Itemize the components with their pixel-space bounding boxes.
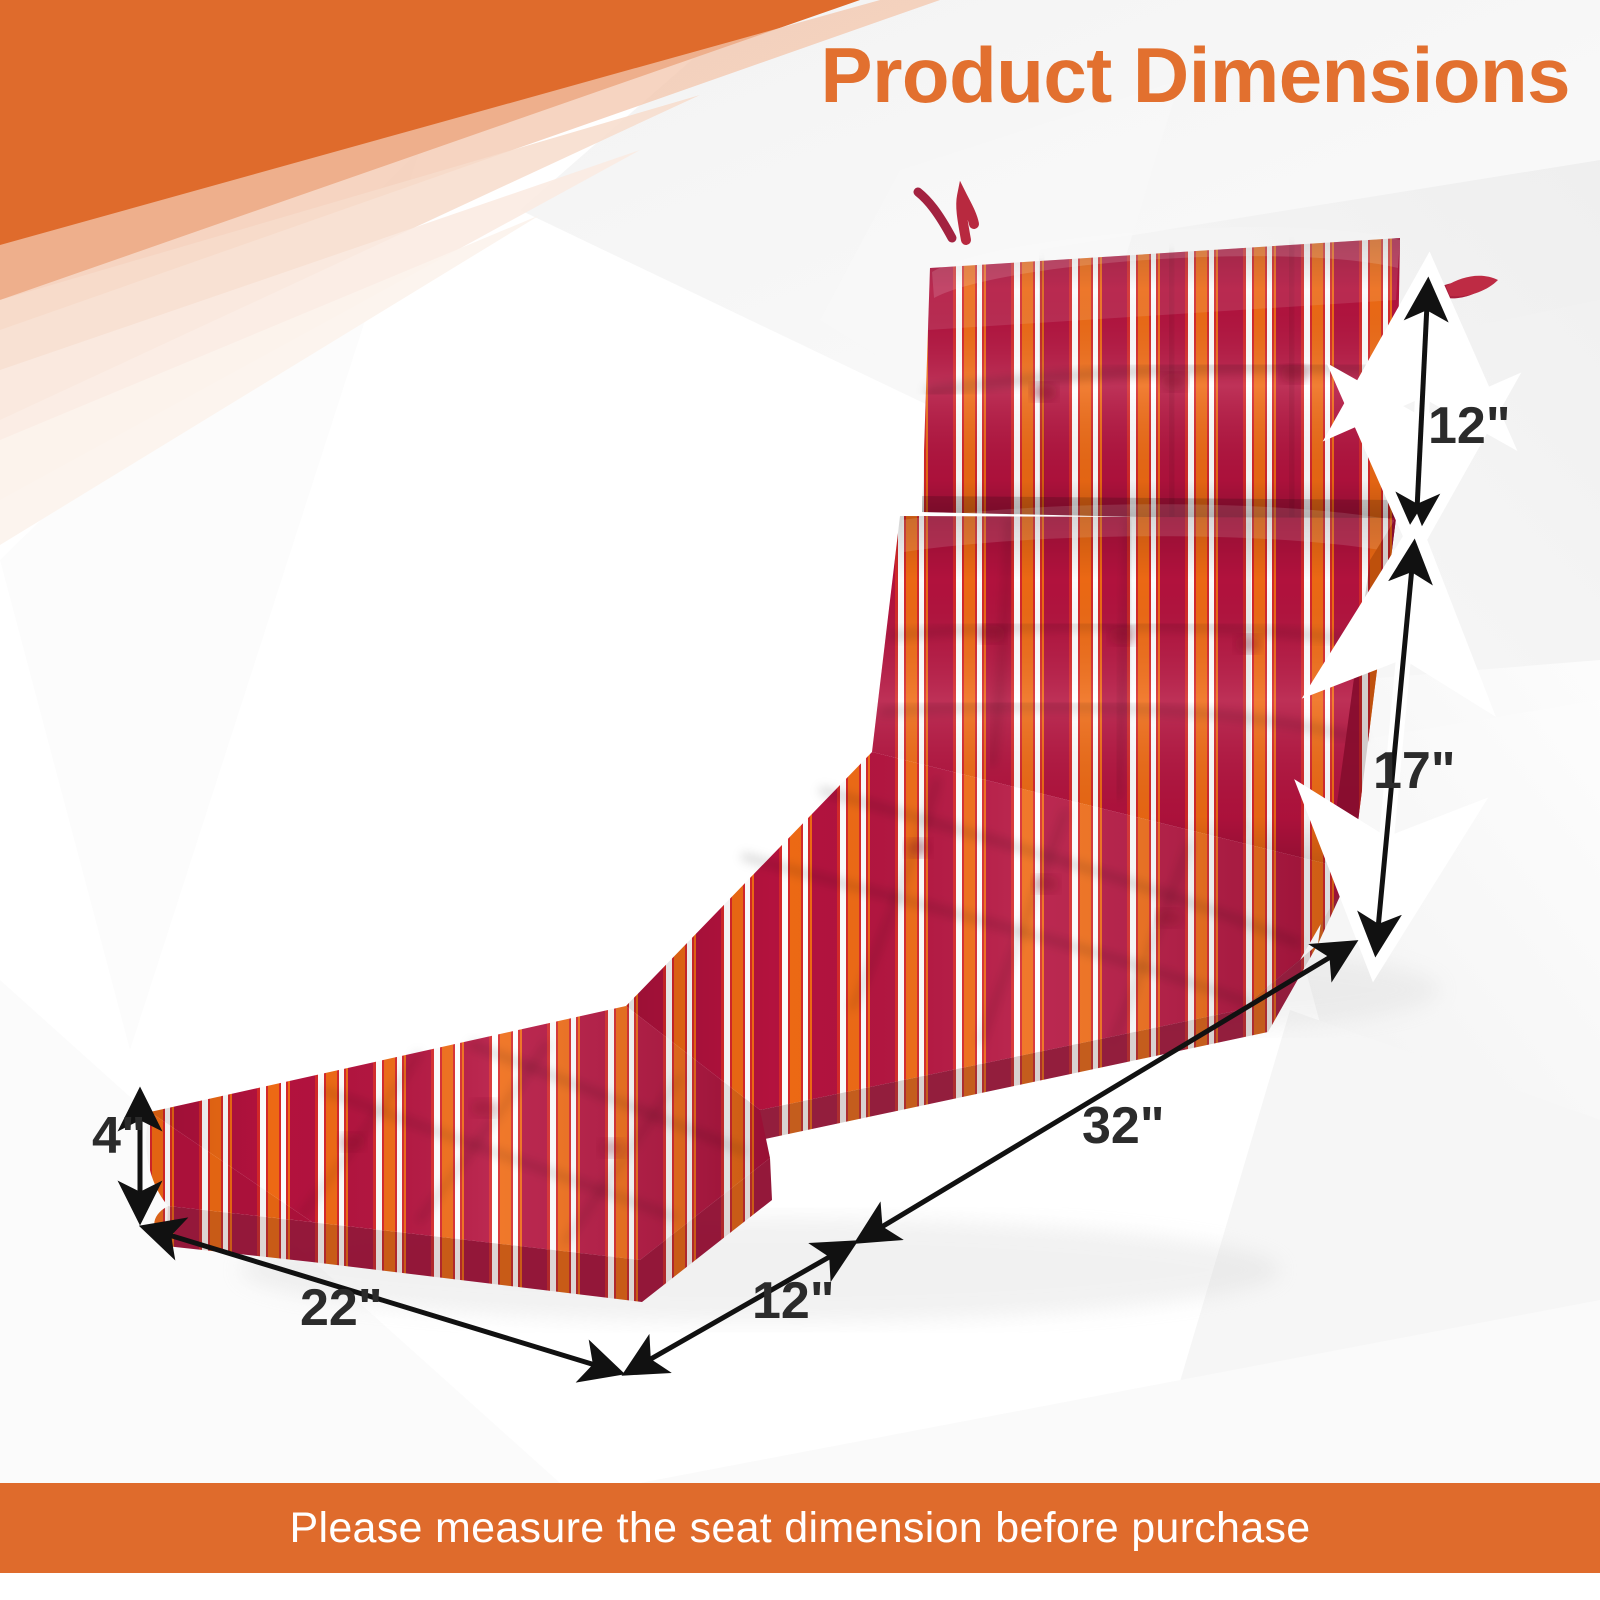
product-dimensions-infographic: Product Dimensions 12" 17" 32" 12" 22" 4… [0,0,1600,1600]
label-seat-depth: 12" [752,1275,835,1327]
footer-banner: Please measure the seat dimension before… [0,1483,1600,1573]
label-seat-length: 32" [1082,1100,1165,1152]
page-title: Product Dimensions [821,36,1570,114]
arrow-headrest-12 [1416,284,1428,530]
label-cushion-thickness: 4" [92,1110,146,1162]
label-cushion-width: 22" [300,1282,383,1334]
label-headrest-height: 12" [1428,400,1511,452]
arrow-seat-length-32 [860,944,1352,1240]
label-backrest-height: 17" [1373,745,1456,797]
footer-note: Please measure the seat dimension before… [0,1483,1600,1573]
dimension-arrows [0,0,1600,1600]
